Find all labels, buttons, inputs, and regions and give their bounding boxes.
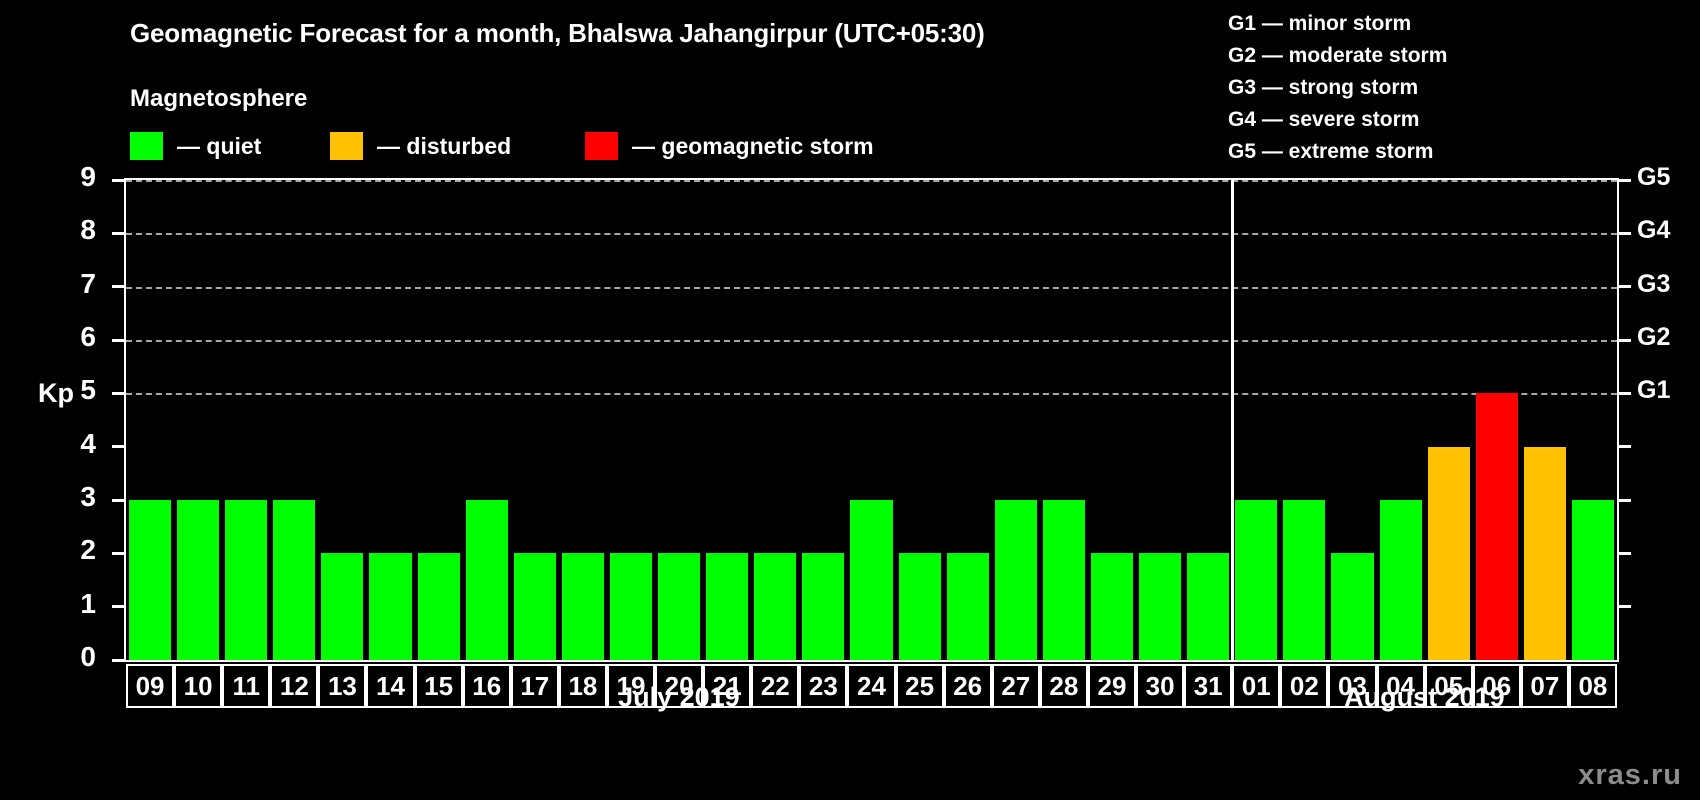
right-tick-kp-1 [1617,605,1631,608]
bar-series [126,180,1617,660]
bar-august-07 [1524,447,1566,660]
bar-august-06 [1476,393,1518,660]
bar-july-24 [850,500,892,660]
day-label-18: 18 [559,664,607,708]
bar-july-25 [899,553,941,660]
day-label-12: 12 [270,664,318,708]
day-label-11: 11 [222,664,270,708]
bar-july-13 [321,553,363,660]
right-axis-label-G1: G1 [1637,376,1670,405]
bar-july-22 [754,553,796,660]
day-label-10: 10 [174,664,222,708]
bar-july-17 [514,553,556,660]
right-tick-kp-7 [1617,285,1631,288]
y-tick-label-1: 1 [56,588,96,620]
month-name-0: July 2019 [618,682,740,713]
y-tick-label-4: 4 [56,428,96,460]
bar-july-23 [802,553,844,660]
storm-scale-row-4: G4 — severe storm [1228,104,1447,136]
y-tick-label-9: 9 [56,161,96,193]
bar-august-08 [1572,500,1614,660]
y-tick-label-2: 2 [56,534,96,566]
day-label-09: 09 [126,664,174,708]
day-label-08: 08 [1569,664,1617,708]
watermark: xras.ru [1578,759,1682,792]
right-tick-kp-3 [1617,499,1631,502]
bar-august-01 [1235,500,1277,660]
geomagnetic-forecast-chart: Geomagnetic Forecast for a month, Bhalsw… [0,0,1700,800]
bar-august-03 [1331,553,1373,660]
y-tick-label-0: 0 [56,641,96,673]
day-label-01: 01 [1232,664,1280,708]
day-label-24: 24 [847,664,895,708]
day-label-31: 31 [1184,664,1232,708]
day-label-16: 16 [463,664,511,708]
bar-july-29 [1091,553,1133,660]
bar-july-30 [1139,553,1181,660]
bar-july-14 [369,553,411,660]
y-axis-label: Kp [38,378,74,409]
bar-july-18 [562,553,604,660]
legend-swatch-quiet [130,132,163,160]
day-label-28: 28 [1040,664,1088,708]
day-label-22: 22 [751,664,799,708]
right-tick-kp-9 [1617,179,1631,182]
bar-july-31 [1187,553,1229,660]
storm-scale-row-1: G1 — minor storm [1228,8,1447,40]
day-label-26: 26 [944,664,992,708]
bar-august-04 [1380,500,1422,660]
storm-scale-row-2: G2 — moderate storm [1228,40,1447,72]
bar-july-09 [129,500,171,660]
bar-july-27 [995,500,1037,660]
legend-label-quiet: — quiet [177,133,261,160]
legend-item-disturbed: — disturbed [330,130,511,162]
day-label-30: 30 [1136,664,1184,708]
storm-scale-row-5: G5 — extreme storm [1228,136,1447,168]
y-tick-label-7: 7 [56,268,96,300]
day-label-07: 07 [1521,664,1569,708]
bar-july-11 [225,500,267,660]
legend-label-geomagnetic-storm: — geomagnetic storm [632,133,874,160]
bar-august-02 [1283,500,1325,660]
legend-item-geomagnetic-storm: — geomagnetic storm [585,130,874,162]
right-tick-kp-6 [1617,339,1631,342]
magnetosphere-heading: Magnetosphere [130,85,307,113]
bar-july-21 [706,553,748,660]
storm-scale-row-3: G3 — strong storm [1228,72,1447,104]
right-axis-label-G4: G4 [1637,216,1670,245]
day-label-25: 25 [896,664,944,708]
bar-july-10 [177,500,219,660]
legend-label-disturbed: — disturbed [377,133,511,160]
bar-august-05 [1428,447,1470,660]
bar-july-16 [466,500,508,660]
storm-scale-legend: G1 — minor stormG2 — moderate stormG3 — … [1228,8,1447,168]
y-tick-label-3: 3 [56,481,96,513]
day-label-27: 27 [992,664,1040,708]
bar-july-26 [947,553,989,660]
right-tick-kp-8 [1617,232,1631,235]
day-label-15: 15 [415,664,463,708]
right-axis-label-G3: G3 [1637,270,1670,299]
bar-july-19 [610,553,652,660]
bar-july-12 [273,500,315,660]
y-tick-label-6: 6 [56,321,96,353]
legend-swatch-geomagnetic-storm [585,132,618,160]
month-name-1: August 2019 [1344,682,1505,713]
right-tick-kp-5 [1617,392,1631,395]
day-label-17: 17 [511,664,559,708]
right-axis-label-G5: G5 [1637,163,1670,192]
right-axis-label-G2: G2 [1637,323,1670,352]
day-label-13: 13 [318,664,366,708]
plot-area [124,178,1619,662]
y-tick-label-8: 8 [56,214,96,246]
right-tick-kp-4 [1617,445,1631,448]
day-label-23: 23 [799,664,847,708]
right-tick-kp-2 [1617,552,1631,555]
legend-swatch-disturbed [330,132,363,160]
bar-july-20 [658,553,700,660]
day-label-14: 14 [366,664,414,708]
bar-july-28 [1043,500,1085,660]
day-label-02: 02 [1280,664,1328,708]
page-title: Geomagnetic Forecast for a month, Bhalsw… [130,18,985,49]
legend-item-quiet: — quiet [130,130,261,162]
bar-july-15 [418,553,460,660]
day-label-29: 29 [1088,664,1136,708]
